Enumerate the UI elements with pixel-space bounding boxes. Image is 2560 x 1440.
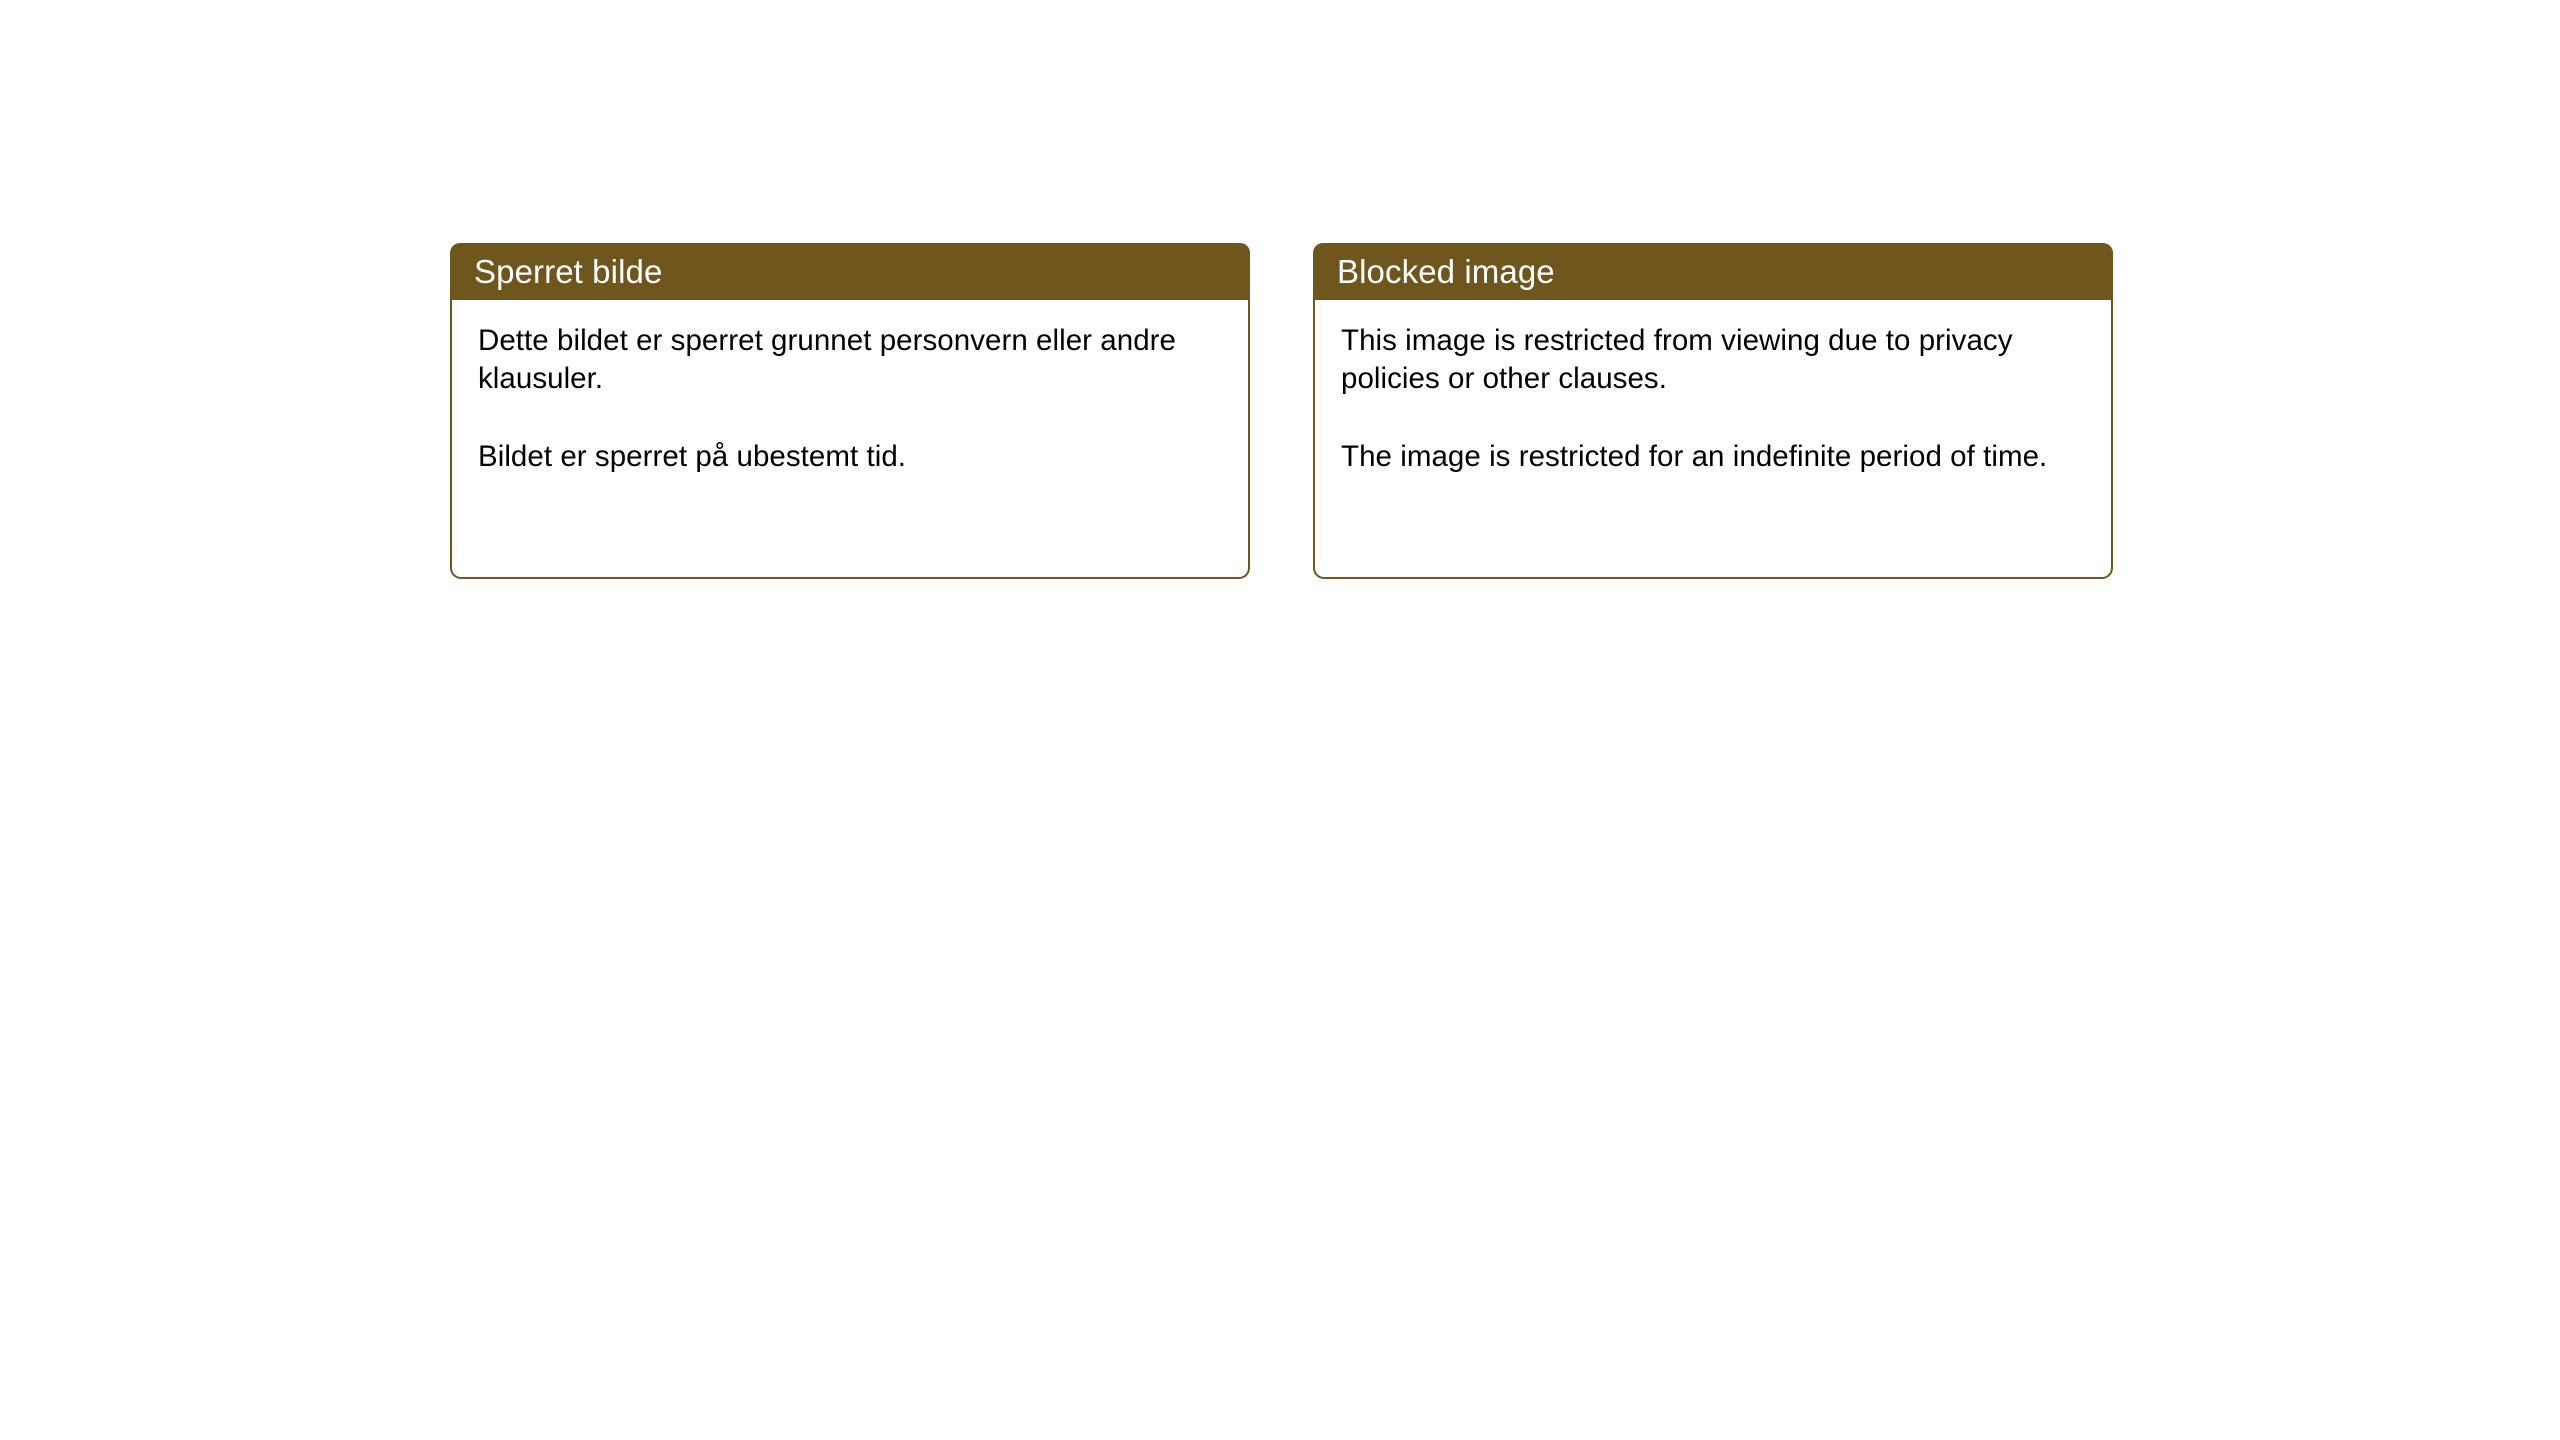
card-title-english: Blocked image: [1337, 255, 1555, 288]
card-paragraph-duration-english: The image is restricted for an indefinit…: [1341, 438, 2085, 476]
card-header-norwegian: Sperret bilde: [450, 243, 1250, 300]
blocked-image-card-english: Blocked image This image is restricted f…: [1313, 243, 2113, 579]
card-paragraph-reason-english: This image is restricted from viewing du…: [1341, 322, 2085, 399]
card-body-english: This image is restricted from viewing du…: [1313, 300, 2113, 579]
blocked-image-card-norwegian: Sperret bilde Dette bildet er sperret gr…: [450, 243, 1250, 579]
card-header-english: Blocked image: [1313, 243, 2113, 300]
page-root: { "page": { "background_color": "#ffffff…: [0, 0, 2560, 1440]
card-body-norwegian: Dette bildet er sperret grunnet personve…: [450, 300, 1250, 579]
card-paragraph-reason-norwegian: Dette bildet er sperret grunnet personve…: [478, 322, 1222, 399]
card-paragraph-duration-norwegian: Bildet er sperret på ubestemt tid.: [478, 438, 1222, 476]
card-title-norwegian: Sperret bilde: [474, 255, 662, 288]
